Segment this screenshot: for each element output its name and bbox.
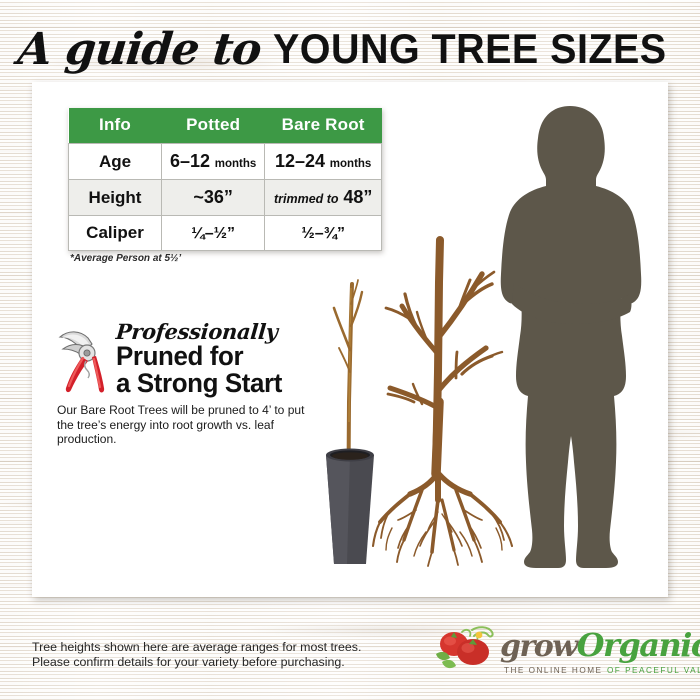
cell-height-bareroot-value: 48” (343, 187, 372, 207)
logo-organic-text: Organic (577, 626, 700, 664)
cell-age-bareroot-value: 12–24 (275, 151, 325, 171)
pruned-bold-line-2: a Strong Start (116, 370, 335, 397)
table-header-potted: Potted (162, 108, 265, 144)
cell-age-potted-unit: months (215, 158, 257, 170)
row-label-height: Height (69, 180, 162, 216)
cell-height-bareroot: trimmed to 48” (265, 180, 382, 216)
table-header-row: Info Potted Bare Root (69, 108, 382, 144)
table-header-bare-root: Bare Root (265, 108, 382, 144)
cell-age-bareroot-unit: months (330, 158, 372, 170)
logo-tagline-part-1: THE ONLINE HOME (504, 666, 602, 675)
person-silhouette-illustration (484, 100, 656, 570)
table-row: Height ~36” trimmed to 48” (69, 180, 382, 216)
cell-caliper-potted: ¼–½” (162, 216, 265, 251)
page-title: A guide to YOUNG TREE SIZES (18, 18, 682, 80)
cell-caliper-potted-value: ¼–½” (191, 225, 235, 242)
logo-grow-text: grow (500, 629, 577, 664)
logo-tagline-part-2: OF PEACEFUL VALLEY (607, 666, 700, 675)
pruning-shears-icon (54, 324, 116, 396)
pruned-body-line-2: the tree’s energy into root growth vs. l… (57, 418, 331, 447)
tomato-vine-icon (432, 624, 506, 672)
pruned-bold-line-1: Pruned for (116, 343, 335, 370)
footer-disclaimer-line-1: Tree heights shown here are average rang… (32, 640, 392, 655)
cell-height-potted-value: ~36” (193, 187, 233, 207)
cell-age-bareroot: 12–24 months (265, 144, 382, 180)
cell-height-bareroot-prefix: trimmed to (274, 192, 339, 206)
row-label-caliper: Caliper (69, 216, 162, 251)
pruned-body-line-1: Our Bare Root Trees will be pruned to 4’… (57, 403, 331, 418)
average-person-note: *Average Person at 5½’ (70, 253, 181, 264)
row-label-age: Age (69, 144, 162, 180)
table-row: Age 6–12 months 12–24 months (69, 144, 382, 180)
table-header-info: Info (69, 108, 162, 144)
cell-height-potted: ~36” (162, 180, 265, 216)
page-title-block: YOUNG TREE SIZES (273, 25, 667, 73)
footer-disclaimer-line-2: Please confirm details for your variety … (32, 655, 392, 670)
grow-organic-logo[interactable]: growOrganic.COM THE ONLINE HOME OF PEACE… (432, 618, 682, 680)
page-title-script: A guide to (15, 24, 263, 75)
cell-age-potted: 6–12 months (162, 144, 265, 180)
footer-disclaimer: Tree heights shown here are average rang… (32, 640, 392, 670)
content-card: Info Potted Bare Root Age 6–12 months 12… (32, 82, 668, 597)
cell-age-potted-value: 6–12 (170, 151, 210, 171)
pruned-body-text: Our Bare Root Trees will be pruned to 4’… (57, 403, 331, 447)
